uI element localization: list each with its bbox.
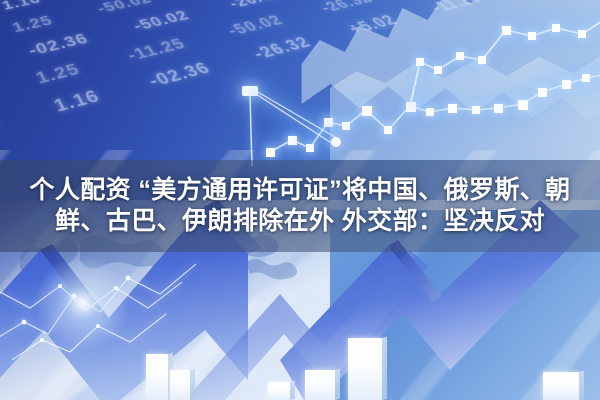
news-thumbnail-image: -0.05 -00.35 -11.25 +5.02 -02.36 21.03 8… bbox=[0, 0, 600, 400]
headline-line-2: 鲜、古巴、伊朗排除在外 外交部：坚决反对 bbox=[55, 207, 545, 236]
bar-column bbox=[170, 370, 190, 400]
ticker-value: 1.25 bbox=[33, 60, 84, 88]
ticker-value: 02.32 bbox=[0, 111, 3, 148]
bar-column bbox=[348, 338, 382, 400]
bar-column bbox=[268, 382, 290, 400]
ticker-value: 1.16 bbox=[51, 86, 105, 117]
headline-text-block: 个人配资 “美方通用许可证”将中国、俄罗斯、朝 鲜、古巴、伊朗排除在外 外交部：… bbox=[0, 160, 600, 252]
bar-column bbox=[146, 354, 168, 400]
ticker-value: 1.25 bbox=[10, 13, 56, 37]
bar-column bbox=[305, 370, 335, 400]
bar-column bbox=[543, 372, 579, 400]
headline-line-1: 个人配资 “美方通用许可证”将中国、俄罗斯、朝 bbox=[29, 176, 570, 205]
lens-flare bbox=[28, 248, 138, 358]
line-chart-nodes-upper bbox=[416, 24, 586, 74]
